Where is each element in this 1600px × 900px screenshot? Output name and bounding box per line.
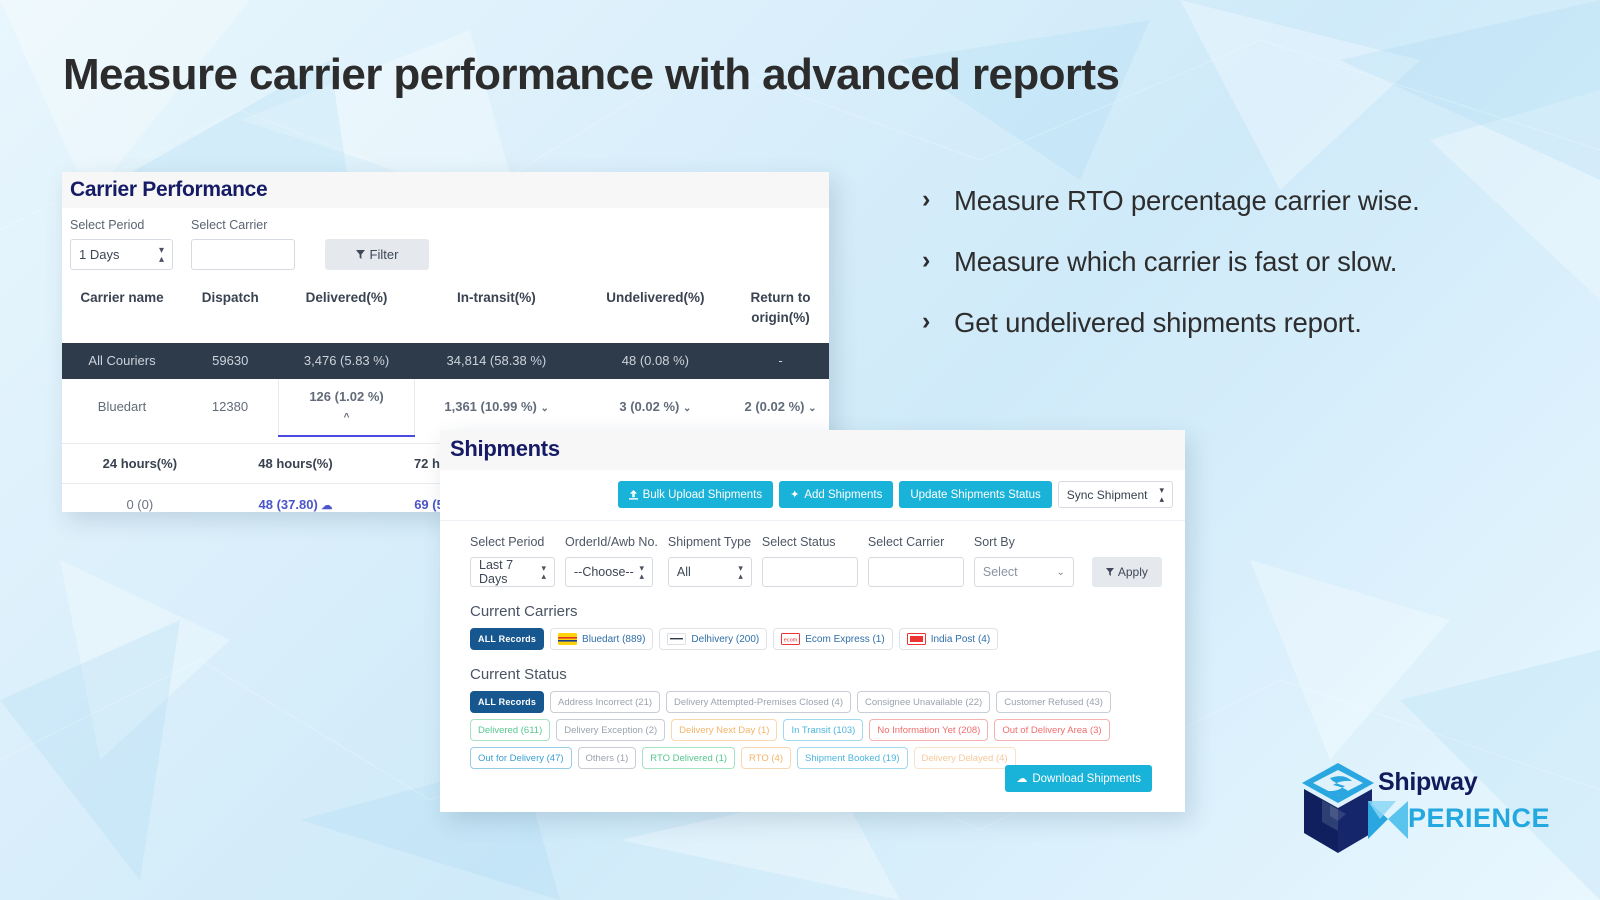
chevron-down-icon: ⌄: [541, 403, 549, 414]
order-awb-label: OrderId/Awb No.: [565, 535, 658, 549]
status-chip[interactable]: Customer Refused (43): [996, 691, 1111, 713]
table-row: All Couriers 59630 3,476 (5.83 %) 34,814…: [62, 343, 829, 380]
cell-48-hours-value: 48 (37.80): [259, 497, 318, 512]
current-carriers-heading: Current Carriers: [440, 587, 1185, 628]
chevron-down-icon: ⌄: [683, 403, 691, 414]
carrier-performance-header: Carrier Performance: [62, 172, 829, 208]
list-item: › Measure which carrier is fast or slow.: [922, 244, 1542, 279]
status-chip-label: RTO (4): [749, 753, 783, 764]
select-status-label: Select Status: [762, 535, 858, 549]
status-chip[interactable]: Others (1): [578, 747, 637, 769]
carrier-chip-label: Ecom Express (1): [805, 634, 884, 645]
sort-by-value: Select: [983, 565, 1018, 579]
list-item: › Get undelivered shipments report.: [922, 305, 1542, 340]
list-item: › Measure RTO percentage carrier wise.: [922, 183, 1542, 218]
carrier-chip-delhivery[interactable]: Delhivery (200): [659, 628, 767, 650]
select-period-field: Select Period 1 Days ▾▴: [70, 218, 173, 270]
cell-delivered[interactable]: 126 (1.02 %) ^: [279, 379, 415, 436]
cell-return-to-origin[interactable]: 2 (0.02 %) ⌄: [733, 379, 829, 436]
add-shipments-button[interactable]: ✦ Add Shipments: [779, 481, 893, 508]
bulk-upload-shipments-button[interactable]: Bulk Upload Shipments: [618, 481, 774, 508]
order-awb-value: --Choose--: [574, 565, 634, 579]
status-chip-label: Shipment Booked (19): [805, 753, 900, 764]
shipments-select-carrier-input[interactable]: [868, 557, 964, 587]
status-chip-label: Address Incorrect (21): [558, 697, 652, 708]
logo-brand-text: Shipway: [1378, 768, 1477, 797]
page-title: Measure carrier performance with advance…: [63, 50, 1463, 101]
shipway-cube-icon: [1300, 761, 1376, 857]
status-chip[interactable]: RTO (4): [741, 747, 791, 769]
cell-dispatch: 59630: [182, 343, 279, 380]
cell-in-transit[interactable]: 1,361 (10.99 %) ⌄: [415, 379, 579, 436]
carrier-performance-title: Carrier Performance: [70, 178, 829, 202]
column-header: 48 hours(%): [218, 444, 374, 484]
status-chip-label: Delivery Exception (2): [564, 725, 657, 736]
download-shipments-label: Download Shipments: [1032, 773, 1141, 785]
carrier-chip-label: Delhivery (200): [691, 634, 759, 645]
shipments-title: Shipments: [450, 436, 1185, 462]
table-row: Bluedart 12380 126 (1.02 %) ^ 1,361 (10.…: [62, 379, 829, 436]
chevron-down-icon: ⌄: [1056, 567, 1064, 578]
add-shipments-label: Add Shipments: [804, 489, 882, 501]
carrier-chip-all-records[interactable]: ALL Records: [470, 628, 544, 650]
carrier-filter-bar: Select Period 1 Days ▾▴ Select Carrier F…: [62, 208, 829, 270]
status-chip-label: Consignee Unavailable (22): [865, 697, 982, 708]
stepper-arrows-icon: ▾▴: [639, 564, 644, 580]
order-awb-dropdown[interactable]: --Choose-- ▾▴: [565, 557, 653, 587]
table-header-row: Carrier name Dispatch Delivered(%) In-tr…: [62, 282, 829, 343]
column-header: Carrier name: [62, 282, 182, 343]
status-chip-label: RTO Delivered (1): [650, 753, 727, 764]
status-chip[interactable]: No Information Yet (208): [869, 719, 988, 741]
bullet-text: Get undelivered shipments report.: [954, 305, 1362, 340]
shipments-select-carrier-field: Select Carrier: [868, 535, 964, 587]
shipments-select-period-field: Select Period Last 7 Days ▾▴: [470, 535, 555, 587]
shipment-type-field: Shipment Type All ▾▴: [668, 535, 752, 587]
status-chip[interactable]: Out for Delivery (47): [470, 747, 572, 769]
update-shipments-status-label: Update Shipments Status: [910, 489, 1040, 501]
carrier-chip-label: ALL Records: [478, 634, 536, 644]
select-period-value: 1 Days: [79, 247, 119, 262]
logo-sub-text: PERIENCE: [1408, 803, 1550, 834]
carrier-chip-label: Bluedart (889): [582, 634, 645, 645]
status-chip-label: Delivered (611): [478, 725, 542, 736]
chevron-right-icon: ›: [922, 305, 944, 337]
status-chip[interactable]: Address Incorrect (21): [550, 691, 660, 713]
status-chip[interactable]: Delivery Delayed (4): [914, 747, 1016, 769]
filter-button[interactable]: Filter: [325, 239, 429, 270]
cell-in-transit: 34,814 (58.38 %): [415, 343, 579, 380]
status-chip[interactable]: RTO Delivered (1): [642, 747, 735, 769]
cell-undelivered-value: 3 (0.02 %): [619, 399, 679, 414]
carrier-chip-ecom-express[interactable]: ecom Ecom Express (1): [773, 628, 892, 650]
cell-undelivered[interactable]: 3 (0.02 %) ⌄: [578, 379, 732, 436]
shipment-type-dropdown[interactable]: All ▾▴: [668, 557, 752, 587]
status-chip-label: Out of Delivery Area (3): [1002, 725, 1101, 736]
cell-in-transit-value: 1,361 (10.99 %): [444, 399, 537, 414]
cell-return-to-origin: -: [733, 343, 829, 380]
status-chip[interactable]: Shipment Booked (19): [797, 747, 908, 769]
status-chip-label: Delivery Attempted-Premises Closed (4): [674, 697, 843, 708]
status-chip-label: No Information Yet (208): [877, 725, 980, 736]
download-shipments-button[interactable]: ☁ Download Shipments: [1005, 765, 1152, 792]
select-carrier-label: Select Carrier: [191, 218, 295, 232]
plus-diamond-icon: ✦: [790, 488, 799, 501]
status-chip-label: Others (1): [586, 753, 629, 764]
bullet-text: Measure which carrier is fast or slow.: [954, 244, 1397, 279]
status-chip-row: ALL RecordsAddress Incorrect (21)Deliver…: [440, 691, 1185, 769]
column-header: 24 hours(%): [62, 444, 218, 484]
cloud-download-icon: ☁: [321, 500, 332, 512]
column-header: Return to origin(%): [733, 282, 829, 343]
status-chip[interactable]: Delivery Exception (2): [556, 719, 665, 741]
status-chip-label: Delivery Next Day (1): [679, 725, 769, 736]
shipway-logo: Shipway PERIENCE: [1300, 755, 1540, 855]
bulk-upload-label: Bulk Upload Shipments: [643, 489, 763, 501]
shipments-filter-bar: Select Period Last 7 Days ▾▴ OrderId/Awb…: [440, 521, 1185, 587]
sort-by-dropdown[interactable]: Select ⌄: [974, 557, 1074, 587]
select-period-dropdown[interactable]: 1 Days ▾▴: [70, 239, 173, 270]
shipments-action-bar: Bulk Upload Shipments ✦ Add Shipments Up…: [440, 470, 1185, 521]
stepper-arrows-icon: ▾▴: [738, 564, 743, 580]
status-chip[interactable]: Delivered (611): [470, 719, 550, 741]
shipments-select-carrier-label: Select Carrier: [868, 535, 964, 549]
current-status-heading: Current Status: [440, 650, 1185, 691]
select-status-input[interactable]: [762, 557, 858, 587]
carrier-chip-label: India Post (4): [931, 634, 990, 645]
cell-carrier-name: All Couriers: [62, 343, 182, 380]
shipments-header: Shipments: [440, 430, 1185, 470]
india-post-logo-icon: [907, 633, 926, 645]
column-header: Dispatch: [182, 282, 279, 343]
cell-delivered-value: 126 (1.02 %): [309, 389, 383, 404]
funnel-icon: [356, 250, 365, 259]
slide-canvas: Measure carrier performance with advance…: [0, 0, 1600, 900]
delhivery-logo-icon: [667, 633, 686, 645]
stepper-arrows-icon: ▾▴: [159, 246, 164, 264]
ecom-express-logo-icon: ecom: [781, 633, 800, 645]
sync-shipment-dropdown[interactable]: Sync Shipment ▾▴: [1058, 481, 1173, 508]
cell-delivered: 3,476 (5.83 %): [279, 343, 415, 380]
column-header: Undelivered(%): [578, 282, 732, 343]
cell-undelivered: 48 (0.08 %): [578, 343, 732, 380]
status-chip[interactable]: Consignee Unavailable (22): [857, 691, 990, 713]
status-chip[interactable]: Delivery Next Day (1): [671, 719, 777, 741]
status-chip[interactable]: ALL Records: [470, 691, 544, 713]
status-chip[interactable]: In Transit (103): [783, 719, 863, 741]
sort-by-field: Sort By Select ⌄: [974, 535, 1074, 587]
select-carrier-input[interactable]: [191, 239, 295, 270]
chevron-up-icon: ^: [344, 412, 350, 423]
sort-by-label: Sort By: [974, 535, 1074, 549]
svg-text:ecom: ecom: [784, 637, 798, 643]
cell-rto-value: 2 (0.02 %): [745, 399, 805, 414]
filter-button-label: Filter: [370, 247, 399, 262]
bluedart-logo-icon: [558, 633, 577, 645]
select-carrier-field: Select Carrier: [191, 218, 295, 270]
cell-48-hours[interactable]: 48 (37.80) ☁: [218, 484, 374, 526]
column-header: Delivered(%): [279, 282, 415, 343]
status-chip-label: Customer Refused (43): [1004, 697, 1103, 708]
shipment-type-label: Shipment Type: [668, 535, 752, 549]
apply-button[interactable]: Apply: [1092, 557, 1162, 587]
chevron-down-icon: ⌄: [808, 403, 816, 414]
feature-bullet-list: › Measure RTO percentage carrier wise. ›…: [922, 183, 1542, 367]
shipment-type-value: All: [677, 565, 691, 579]
shipments-select-period-value: Last 7 Days: [479, 558, 541, 586]
logo-x-icon: [1366, 797, 1412, 843]
select-status-field: Select Status: [762, 535, 858, 587]
order-awb-field: OrderId/Awb No. --Choose-- ▾▴: [565, 535, 658, 587]
shipments-select-period-dropdown[interactable]: Last 7 Days ▾▴: [470, 557, 555, 587]
cloud-download-icon: ☁: [1016, 772, 1027, 785]
chevron-right-icon: ›: [922, 183, 944, 215]
funnel-icon: [1106, 568, 1114, 576]
select-period-label: Select Period: [70, 218, 173, 232]
update-shipments-status-button[interactable]: Update Shipments Status: [899, 481, 1051, 508]
cell-carrier-name: Bluedart: [62, 379, 182, 436]
carrier-chip-bluedart[interactable]: Bluedart (889): [550, 628, 653, 650]
status-chip-label: ALL Records: [478, 697, 536, 707]
status-chip[interactable]: Out of Delivery Area (3): [994, 719, 1109, 741]
stepper-arrows-icon: ▾▴: [1159, 486, 1164, 502]
status-chip-label: Out for Delivery (47): [478, 753, 564, 764]
shipments-panel: Shipments Bulk Upload Shipments ✦ Add Sh…: [440, 430, 1185, 812]
column-header: In-transit(%): [415, 282, 579, 343]
status-chip[interactable]: Delivery Attempted-Premises Closed (4): [666, 691, 851, 713]
stepper-arrows-icon: ▾▴: [541, 564, 546, 580]
apply-button-label: Apply: [1118, 565, 1148, 579]
status-chip-label: Delivery Delayed (4): [922, 753, 1008, 764]
carrier-chip-india-post[interactable]: India Post (4): [899, 628, 998, 650]
sync-shipment-value: Sync Shipment: [1067, 488, 1148, 502]
cell-24-hours: 0 (0): [62, 484, 218, 526]
carrier-chip-row: ALL Records Bluedart (889) Delhivery (20…: [440, 628, 1185, 650]
cell-dispatch: 12380: [182, 379, 279, 436]
carrier-performance-table: Carrier name Dispatch Delivered(%) In-tr…: [62, 282, 829, 437]
shipments-select-period-label: Select Period: [470, 535, 555, 549]
status-chip-label: In Transit (103): [791, 725, 855, 736]
bullet-text: Measure RTO percentage carrier wise.: [954, 183, 1420, 218]
chevron-right-icon: ›: [922, 244, 944, 276]
upload-icon: [629, 490, 638, 500]
